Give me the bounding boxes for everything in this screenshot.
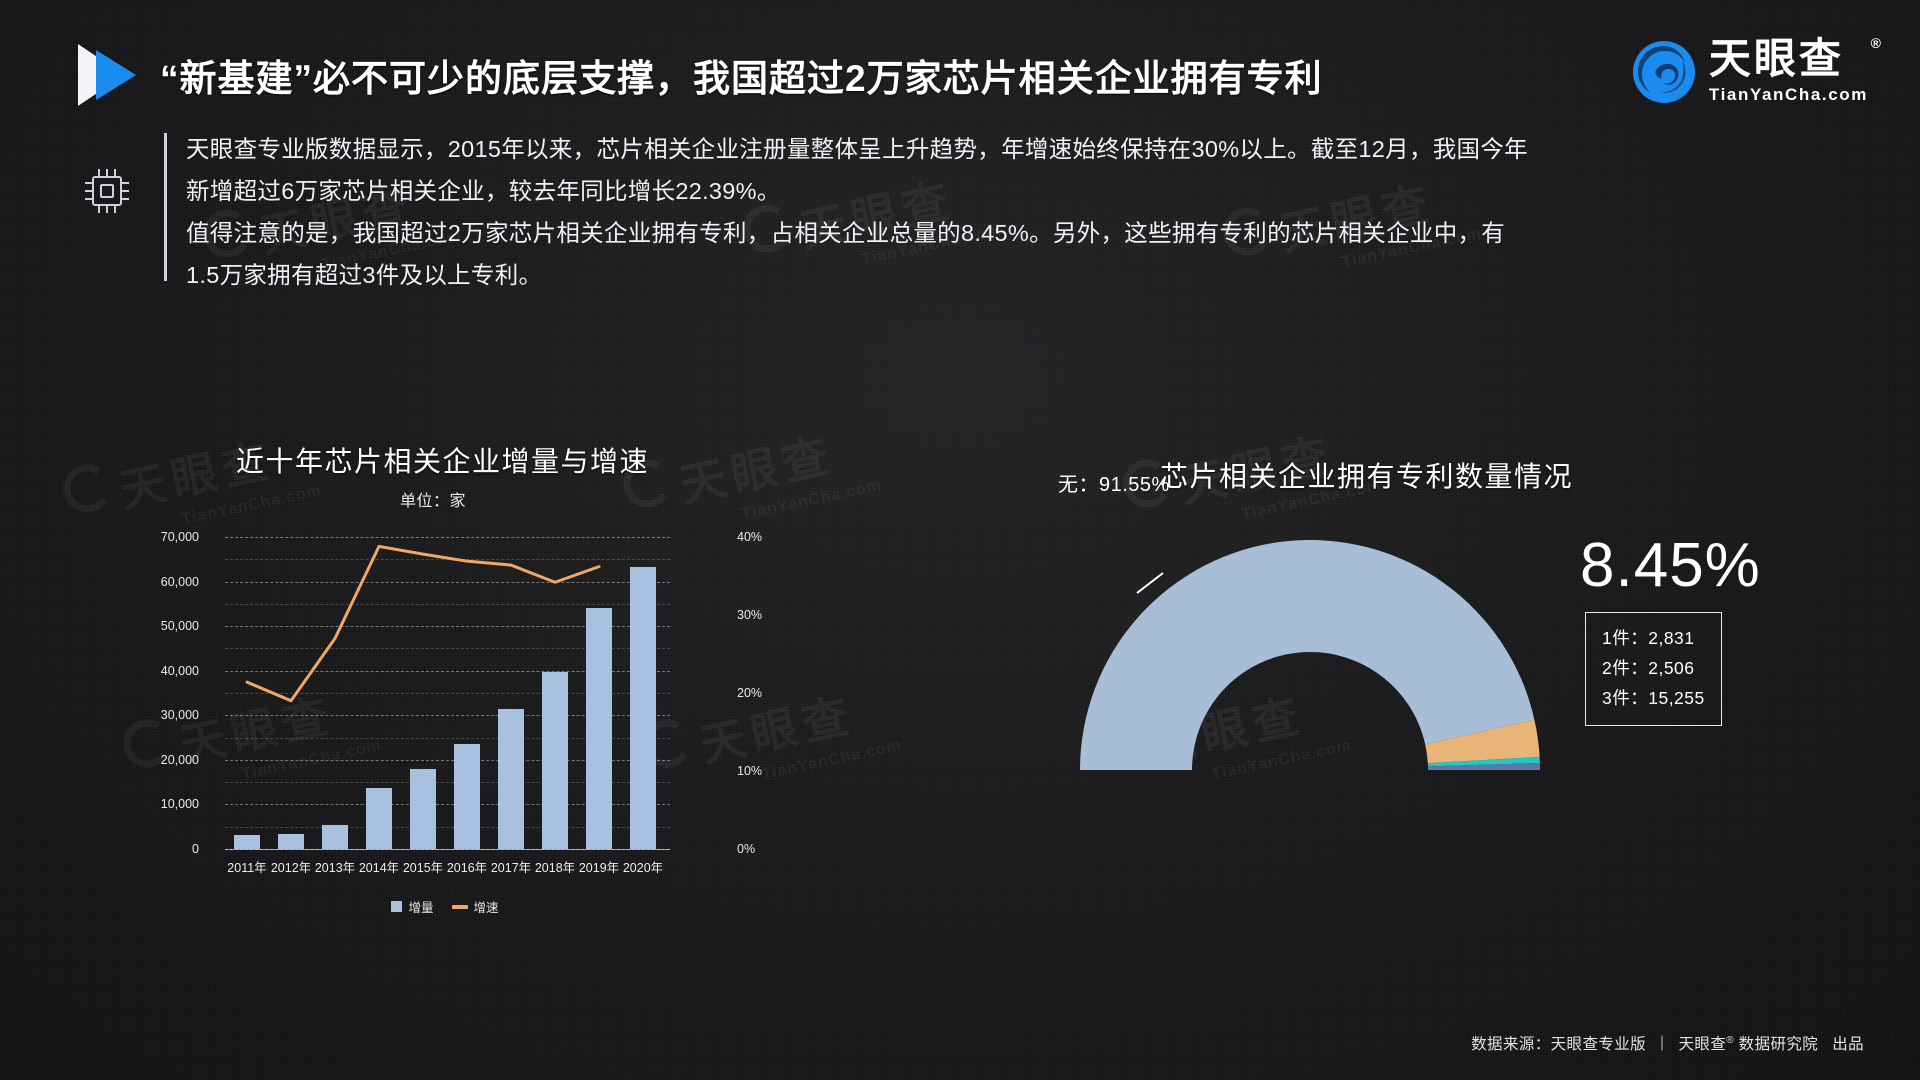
intro-line-4: 1.5万家拥有超过3件及以上专利。: [186, 254, 1554, 296]
page-footer: 数据来源：天眼查专业版 | 天眼查® 数据研究院 出品: [1471, 1032, 1864, 1054]
watermark-cn: 天眼查: [675, 429, 838, 512]
growth-rate-line: [225, 537, 665, 849]
donut-none-label: 无：91.55%: [1058, 468, 1170, 497]
intro-paragraph: 天眼查专业版数据显示，2015年以来，芯片相关企业注册量整体呈上升趋势，年增速始…: [186, 128, 1554, 296]
legend-item-line: 增速: [452, 897, 499, 916]
x-axis-tick: 2015年: [403, 857, 443, 876]
intro-line-2: 新增超过6万家芯片相关企业，较去年同比增长22.39%。: [186, 170, 1554, 212]
y-axis-tick-right: 10%: [737, 764, 762, 778]
legend-item-bar: 增量: [391, 897, 433, 916]
watermark-en: TianYanCha.com: [740, 477, 883, 524]
y-axis-tick-left: 30,000: [161, 708, 199, 722]
x-axis-tick: 2012年: [271, 857, 311, 876]
footer-produced: 出品: [1832, 1032, 1864, 1054]
y-axis-tick-left: 20,000: [161, 753, 199, 767]
left-chart-plot: 010,00020,00030,00040,00050,00060,00070,…: [225, 537, 665, 849]
y-axis-tick-left: 40,000: [161, 664, 199, 678]
footer-org: 天眼查® 数据研究院: [1678, 1032, 1818, 1054]
y-axis-tick-right: 30%: [737, 608, 762, 622]
legend-line-label: 增速: [474, 897, 499, 916]
intro-accent-bar: [164, 133, 167, 281]
left-chart: 010,00020,00030,00040,00050,00060,00070,…: [165, 525, 725, 945]
x-axis-tick: 2013年: [315, 857, 355, 876]
donut-chart: [1040, 520, 1580, 810]
legend-line-swatch: [452, 905, 468, 909]
x-axis-tick: 2017年: [491, 857, 531, 876]
x-axis-tick: 2011年: [227, 857, 266, 876]
play-triangle-icon: [78, 44, 140, 106]
y-axis-tick-right: 0%: [737, 842, 755, 856]
y-axis-tick-right: 40%: [737, 530, 762, 544]
brand-name-cn-text: 天眼查: [1709, 35, 1844, 82]
patent-row-1: 1件：2,831: [1602, 623, 1705, 653]
left-chart-unit: 单位：家: [400, 487, 466, 511]
infographic-page: 天眼查 TianYanCha.com 天眼查 TianYanCha.com 天眼…: [0, 0, 1920, 1080]
y-axis-tick-right: 20%: [737, 686, 762, 700]
footer-source: 数据来源：天眼查专业版: [1471, 1032, 1646, 1054]
registered-mark: ®: [1871, 36, 1884, 50]
legend-bar-swatch: [391, 901, 402, 912]
footer-org-reg: ®: [1726, 1035, 1734, 1046]
intro-line-1: 天眼查专业版数据显示，2015年以来，芯片相关企业注册量整体呈上升趋势，年增速始…: [186, 128, 1554, 170]
legend-bar-label: 增量: [408, 897, 433, 916]
page-header: “新基建”必不可少的底层支撑，我国超过2万家芯片相关企业拥有专利 天眼查® Ti…: [0, 22, 1920, 118]
left-chart-title: 近十年芯片相关企业增量与增速: [236, 440, 649, 480]
x-axis-tick: 2020年: [623, 857, 663, 876]
footer-org-name: 天眼查: [1678, 1036, 1726, 1053]
intro-line-3: 值得注意的是，我国超过2万家芯片相关企业拥有专利，占相关企业总量的8.45%。另…: [186, 212, 1554, 254]
x-axis-tick: 2016年: [447, 857, 487, 876]
y-axis-tick-left: 10,000: [161, 797, 199, 811]
y-axis-tick-left: 0: [192, 842, 199, 856]
x-axis: [225, 849, 670, 850]
x-axis-tick: 2019年: [579, 857, 619, 876]
footer-separator: |: [1660, 1034, 1664, 1052]
watermark: 天眼查 TianYanCha.com: [673, 410, 883, 535]
y-axis-tick-left: 70,000: [161, 530, 199, 544]
patent-percentage: 8.45%: [1580, 530, 1761, 601]
watermark-en: TianYanCha.com: [760, 737, 903, 784]
brand-logo: 天眼查® TianYanCha.com: [1632, 38, 1868, 105]
y-axis-tick-left: 50,000: [161, 619, 199, 633]
left-chart-legend: 增量 增速: [165, 897, 725, 916]
tianyancha-mark-icon: [1632, 40, 1696, 104]
x-axis-tick: 2018年: [535, 857, 575, 876]
right-chart: 无：91.55% 8.45% 1件：2,831 2件：2,506 3件：15,2…: [1020, 430, 1880, 850]
watermark-en: TianYanCha.com: [180, 482, 323, 529]
chip-icon: [78, 162, 136, 220]
brand-name-en: TianYanCha.com: [1709, 85, 1868, 105]
x-axis-tick: 2014年: [359, 857, 399, 876]
watermark-ring-icon: [59, 460, 116, 517]
brand-name-cn: 天眼查®: [1709, 38, 1868, 80]
patent-row-2: 2件：2,506: [1602, 653, 1705, 683]
donut-leader-line: [1137, 573, 1163, 593]
footer-org-rest: 数据研究院: [1734, 1036, 1818, 1053]
patent-row-3: 3件：15,255: [1602, 683, 1705, 713]
page-title: “新基建”必不可少的底层支撑，我国超过2万家芯片相关企业拥有专利: [160, 48, 1323, 102]
patent-count-box: 1件：2,831 2件：2,506 3件：15,255: [1585, 612, 1722, 726]
y-axis-tick-left: 60,000: [161, 575, 199, 589]
